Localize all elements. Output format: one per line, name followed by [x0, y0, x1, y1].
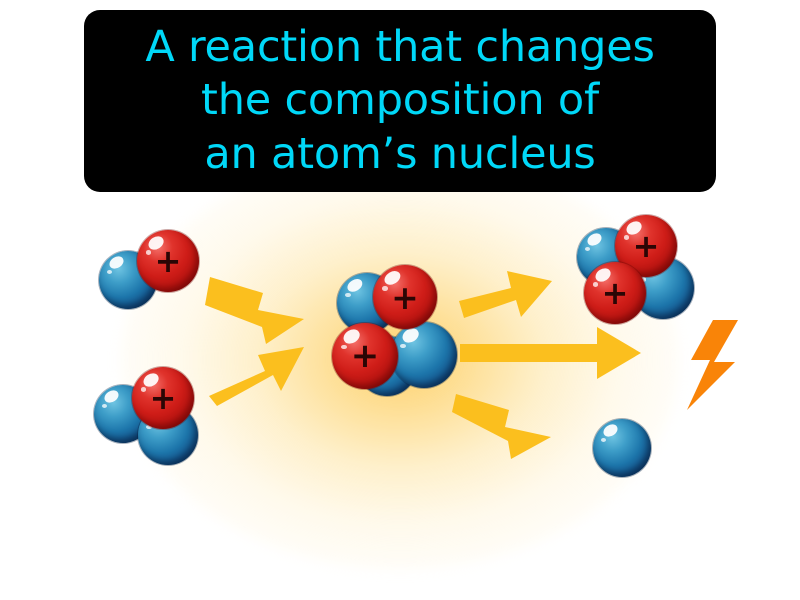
energy-lightning-bolt-icon [687, 320, 738, 410]
proton-sphere: + [132, 367, 194, 429]
proton-sphere: + [373, 265, 437, 329]
proton-charge-plus-icon: + [132, 367, 194, 429]
arrow-reactant-top-in [205, 277, 304, 344]
definition-text: A reaction that changes the composition … [131, 21, 668, 181]
proton-charge-plus-icon: + [332, 323, 398, 389]
proton-charge-plus-icon: + [584, 262, 646, 324]
specular-dot-icon [585, 247, 590, 251]
specular-dot-icon [107, 270, 112, 274]
arrow-product-down [452, 394, 551, 459]
flashcard-image: A reaction that changes the composition … [0, 0, 800, 600]
definition-banner: A reaction that changes the composition … [84, 10, 716, 192]
specular-dot-icon [102, 404, 107, 408]
specular-highlight-icon [345, 276, 364, 294]
proton-sphere: + [584, 262, 646, 324]
specular-highlight-icon [102, 388, 121, 405]
arrow-product-straight [460, 327, 641, 379]
proton-charge-plus-icon: + [373, 265, 437, 329]
proton-charge-plus-icon: + [137, 230, 199, 292]
specular-dot-icon [601, 438, 606, 442]
arrow-reactant-bottom-in [209, 347, 304, 406]
specular-highlight-icon [601, 422, 620, 439]
proton-sphere: + [137, 230, 199, 292]
neutron-sphere [391, 322, 457, 388]
arrow-product-up [459, 271, 552, 318]
specular-dot-icon [345, 293, 350, 297]
neutron-sphere [593, 419, 651, 477]
proton-sphere: + [332, 323, 398, 389]
specular-highlight-icon [107, 254, 126, 271]
specular-highlight-icon [585, 231, 604, 248]
specular-dot-icon [400, 344, 406, 349]
